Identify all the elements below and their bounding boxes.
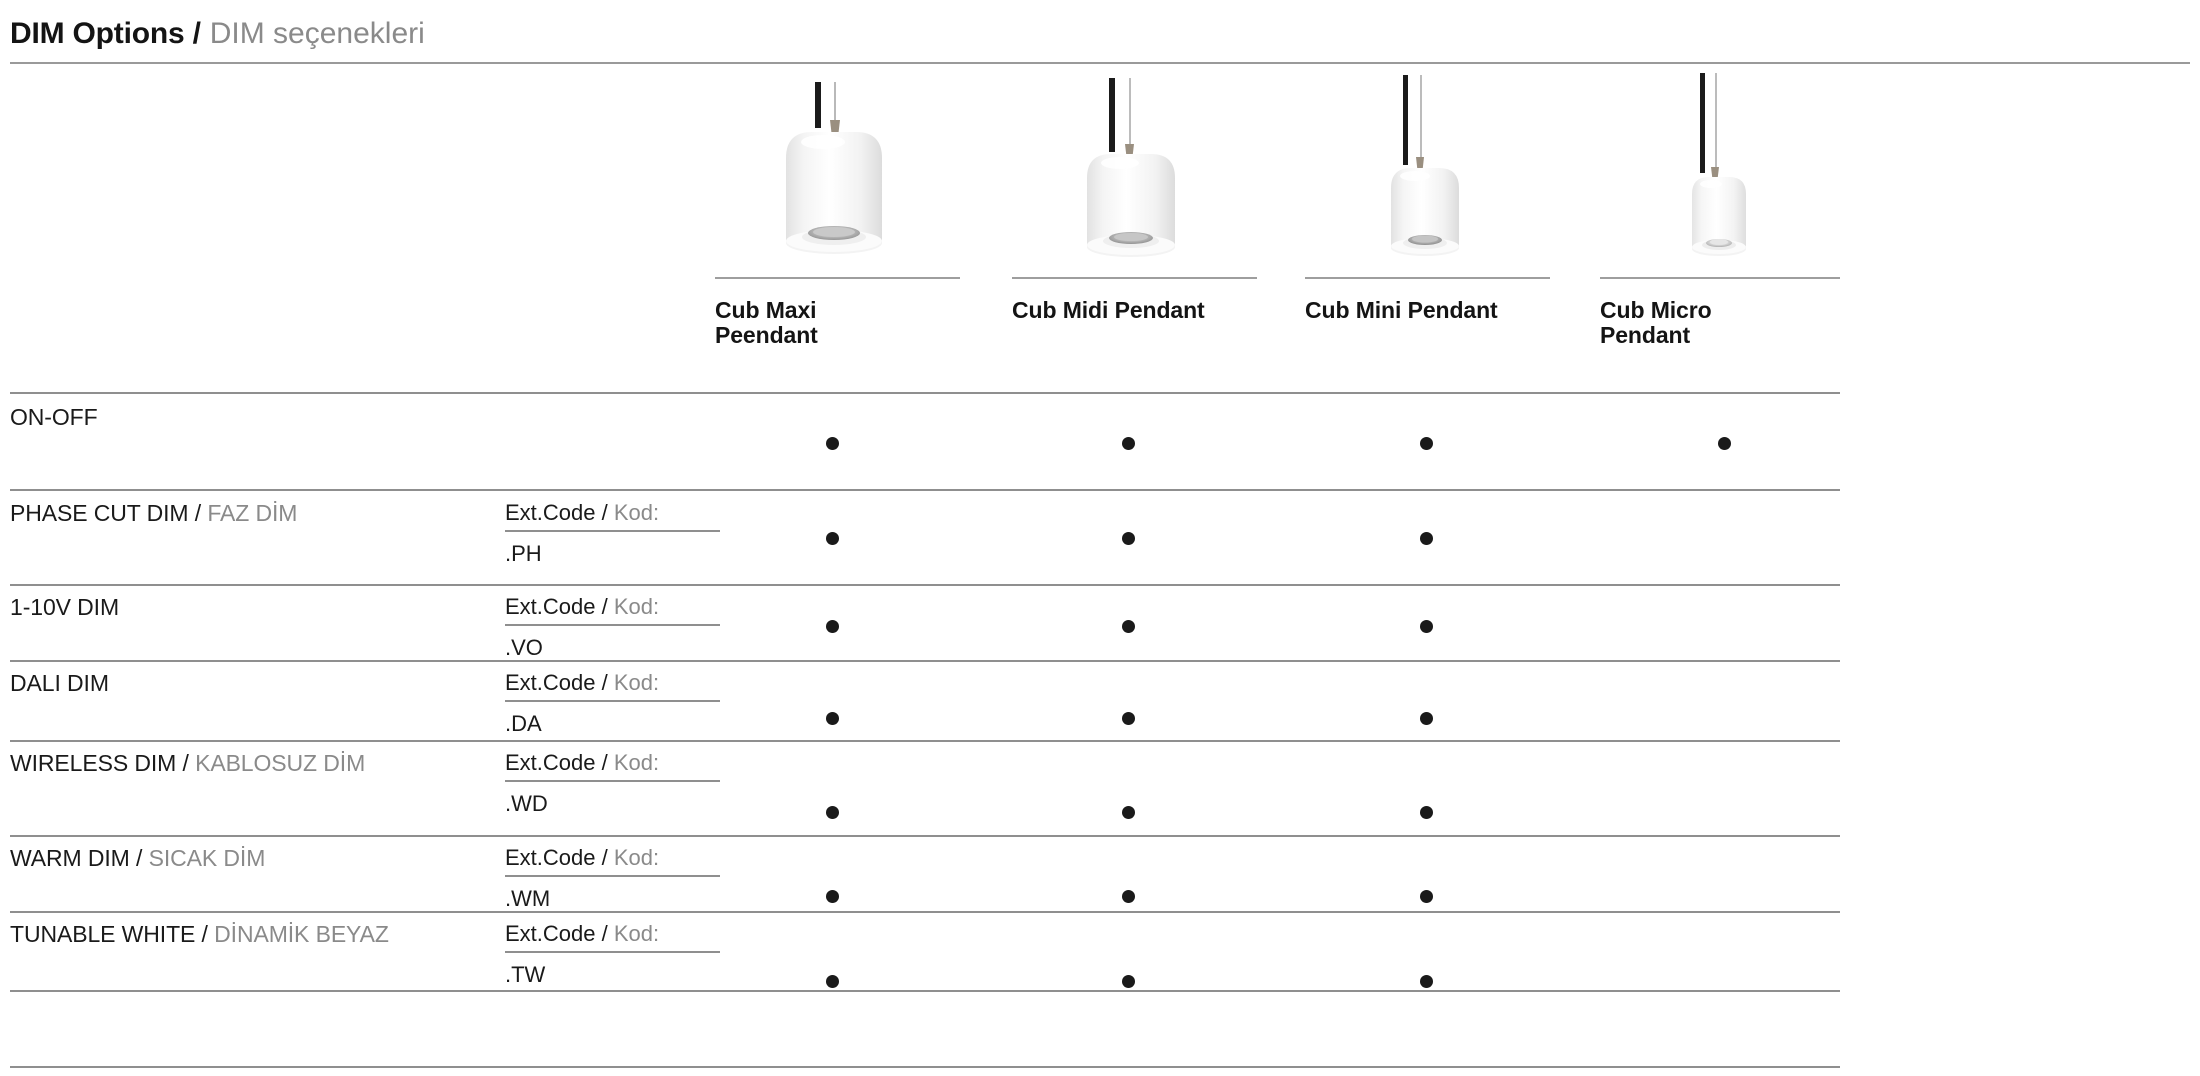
support-dot-mini <box>1420 806 1433 819</box>
ext-code-label-sub: Kod: <box>614 921 659 946</box>
ext-code-label: Ext.Code / Kod: <box>505 594 720 626</box>
support-dot-mini <box>1420 620 1433 633</box>
support-dot-mini <box>1420 437 1433 450</box>
row-divider <box>10 392 1840 394</box>
row-label: WIRELESS DIM / KABLOSUZ DİM <box>10 750 365 777</box>
support-dot-maxi <box>826 532 839 545</box>
support-dot-micro <box>1718 437 1731 450</box>
ext-code-label-main: Ext.Code / <box>505 670 614 695</box>
ext-code-value: .PH <box>505 541 720 567</box>
support-dot-maxi <box>826 620 839 633</box>
row-divider <box>10 740 1840 742</box>
ext-code-cell: Ext.Code / Kod:.WD <box>505 750 720 817</box>
dim-options-table: ON-OFFPHASE CUT DIM / FAZ DİMExt.Code / … <box>0 0 2200 1076</box>
row-divider <box>10 489 1840 491</box>
row-divider <box>10 584 1840 586</box>
support-dot-mini <box>1420 975 1433 988</box>
row-label-sub: SICAK DİM <box>142 845 265 871</box>
row-label: TUNABLE WHITE / DİNAMİK BEYAZ <box>10 921 389 948</box>
ext-code-label-sub: Kod: <box>614 845 659 870</box>
support-dot-midi <box>1122 532 1135 545</box>
ext-code-label-sub: Kod: <box>614 670 659 695</box>
ext-code-label: Ext.Code / Kod: <box>505 845 720 877</box>
ext-code-label-sub: Kod: <box>614 594 659 619</box>
dim-options-spec-sheet: DIM Options / DIM seçenekleri <box>0 0 2200 1076</box>
ext-code-value: .TW <box>505 962 720 988</box>
row-label: 1-10V DIM <box>10 594 119 621</box>
ext-code-label-main: Ext.Code / <box>505 921 614 946</box>
row-label-main: PHASE CUT DIM / <box>10 500 201 526</box>
ext-code-label: Ext.Code / Kod: <box>505 921 720 953</box>
row-label: ON-OFF <box>10 404 98 431</box>
support-dot-maxi <box>826 890 839 903</box>
ext-code-value: .VO <box>505 635 720 661</box>
support-dot-midi <box>1122 620 1135 633</box>
support-dot-midi <box>1122 890 1135 903</box>
support-dot-midi <box>1122 975 1135 988</box>
ext-code-label: Ext.Code / Kod: <box>505 750 720 782</box>
row-label-main: WIRELESS DIM / <box>10 750 189 776</box>
support-dot-mini <box>1420 532 1433 545</box>
support-dot-maxi <box>826 975 839 988</box>
ext-code-label-sub: Kod: <box>614 500 659 525</box>
ext-code-cell: Ext.Code / Kod:.DA <box>505 670 720 737</box>
support-dot-midi <box>1122 806 1135 819</box>
ext-code-cell: Ext.Code / Kod:.PH <box>505 500 720 567</box>
support-dot-midi <box>1122 437 1135 450</box>
ext-code-label-main: Ext.Code / <box>505 845 614 870</box>
row-label-main: TUNABLE WHITE / <box>10 921 208 947</box>
row-label: DALI DIM <box>10 670 109 697</box>
row-label-main: DALI DIM <box>10 670 109 696</box>
row-label-sub: FAZ DİM <box>201 500 297 526</box>
ext-code-value: .DA <box>505 711 720 737</box>
row-divider <box>10 1066 1840 1068</box>
row-divider <box>10 835 1840 837</box>
row-label-main: WARM DIM / <box>10 845 142 871</box>
row-divider <box>10 660 1840 662</box>
row-label-main: 1-10V DIM <box>10 594 119 620</box>
support-dot-mini <box>1420 890 1433 903</box>
row-label-sub: KABLOSUZ DİM <box>189 750 365 776</box>
row-divider <box>10 911 1840 913</box>
ext-code-value: .WD <box>505 791 720 817</box>
ext-code-cell: Ext.Code / Kod:.VO <box>505 594 720 661</box>
support-dot-maxi <box>826 437 839 450</box>
support-dot-mini <box>1420 712 1433 725</box>
support-dot-maxi <box>826 712 839 725</box>
ext-code-value: .WM <box>505 886 720 912</box>
row-label-main: ON-OFF <box>10 404 98 430</box>
row-label-sub: DİNAMİK BEYAZ <box>208 921 389 947</box>
support-dot-maxi <box>826 806 839 819</box>
row-label: PHASE CUT DIM / FAZ DİM <box>10 500 297 527</box>
ext-code-cell: Ext.Code / Kod:.WM <box>505 845 720 912</box>
ext-code-label-main: Ext.Code / <box>505 750 614 775</box>
row-label: WARM DIM / SICAK DİM <box>10 845 265 872</box>
ext-code-cell: Ext.Code / Kod:.TW <box>505 921 720 988</box>
ext-code-label-main: Ext.Code / <box>505 500 614 525</box>
row-divider <box>10 990 1840 992</box>
support-dot-midi <box>1122 712 1135 725</box>
ext-code-label-main: Ext.Code / <box>505 594 614 619</box>
ext-code-label: Ext.Code / Kod: <box>505 500 720 532</box>
ext-code-label: Ext.Code / Kod: <box>505 670 720 702</box>
ext-code-label-sub: Kod: <box>614 750 659 775</box>
